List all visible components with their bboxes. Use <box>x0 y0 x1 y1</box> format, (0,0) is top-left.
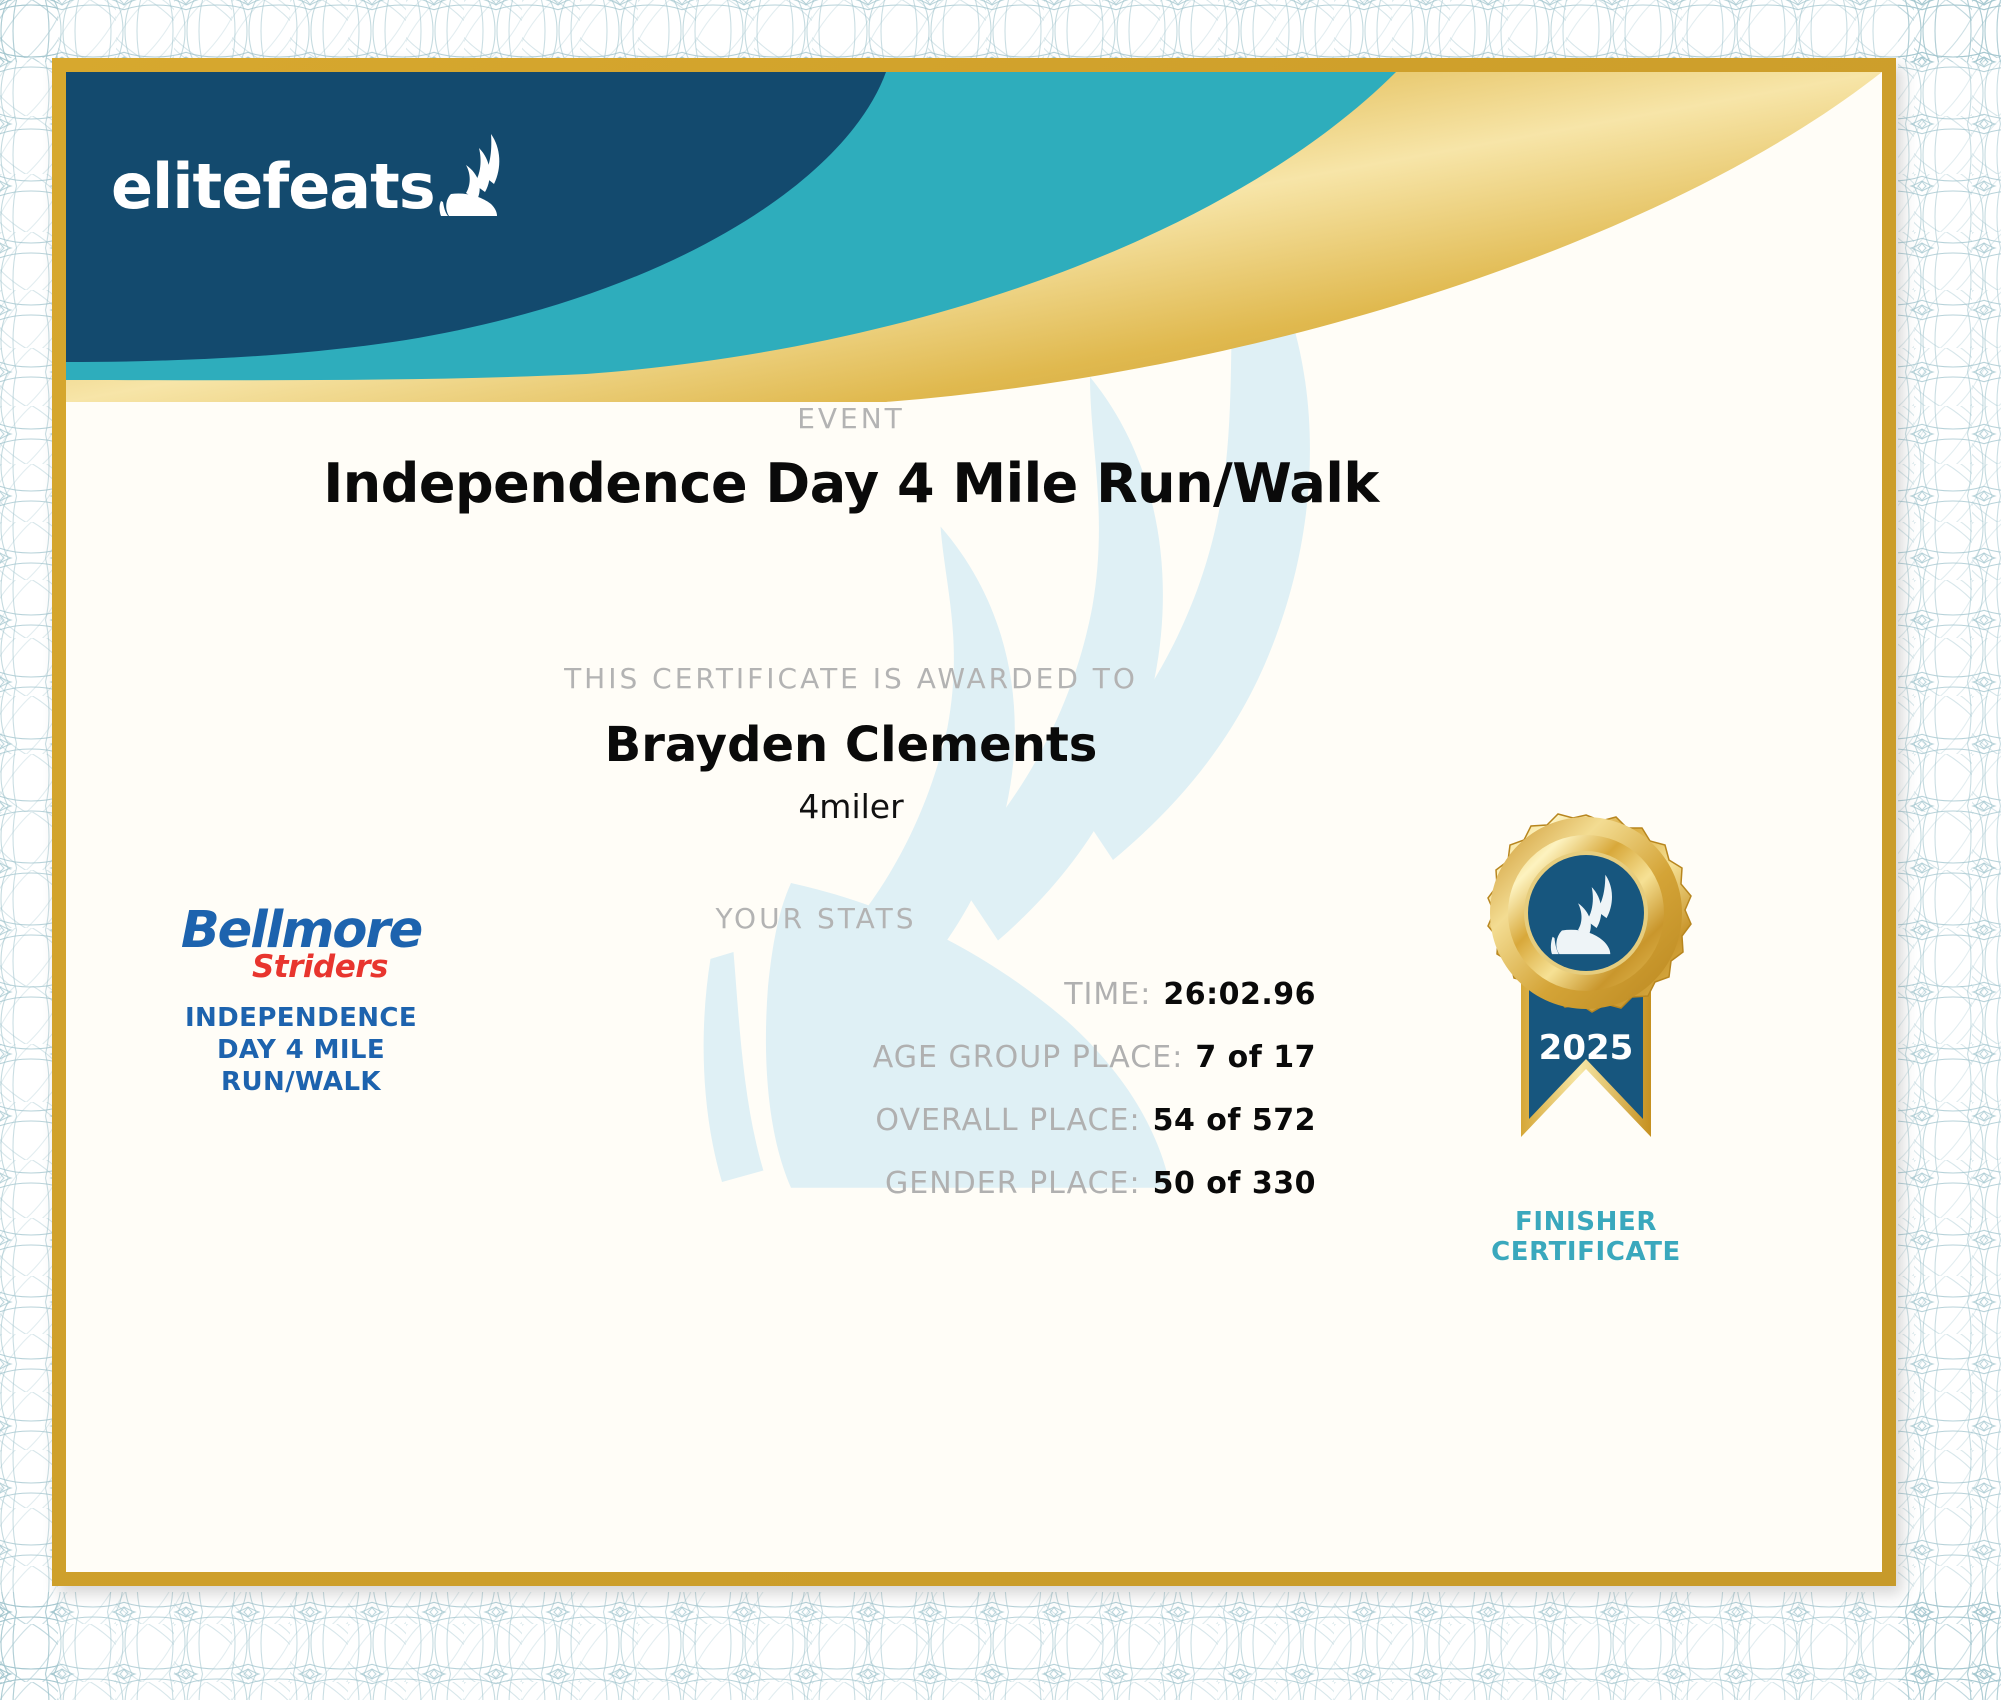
winged-foot-icon <box>439 132 509 218</box>
stat-value-time: 26:02.96 <box>1163 977 1316 1012</box>
badge-caption-line-2: CERTIFICATE <box>1441 1238 1731 1268</box>
finisher-medal-badge: 2025 FINISHER CERTIFICATE <box>1441 797 1731 1268</box>
stats-list: TIME: 26:02.96 AGE GROUP PLACE: 7 of 17 … <box>396 977 1316 1229</box>
event-label: EVENT <box>316 402 1386 435</box>
certificate-page: elitefeats EVENT Independence Day 4 Mile… <box>0 0 2001 1700</box>
medal-ribbon-icon: 2025 <box>1441 797 1731 1197</box>
stat-value-gender-place: 50 of 330 <box>1153 1166 1316 1201</box>
recipient-name: Brayden Clements <box>316 717 1386 773</box>
your-stats-label: YOUR STATS <box>316 902 1316 935</box>
striders-line-3: RUN/WALK <box>156 1067 446 1099</box>
awarded-to-label: THIS CERTIFICATE IS AWARDED TO <box>316 662 1386 695</box>
recipient-division: 4miler <box>316 787 1386 826</box>
elitefeats-logo-text: elitefeats <box>111 156 435 218</box>
striders-wordmark-main: Bellmore <box>156 907 446 955</box>
striders-line-2: DAY 4 MILE <box>156 1035 446 1067</box>
stat-label-overall-place: OVERALL PLACE: <box>875 1103 1140 1138</box>
striders-line-1: INDEPENDENCE <box>156 1003 446 1035</box>
badge-caption-line-1: FINISHER <box>1441 1208 1731 1238</box>
event-title: Independence Day 4 Mile Run/Walk <box>216 452 1486 515</box>
certificate-body: elitefeats EVENT Independence Day 4 Mile… <box>66 72 1882 1572</box>
stat-label-gender-place: GENDER PLACE: <box>885 1166 1141 1201</box>
stat-row: AGE GROUP PLACE: 7 of 17 <box>396 1040 1316 1075</box>
bellmore-striders-logo: Bellmore Striders INDEPENDENCE DAY 4 MIL… <box>156 907 446 1099</box>
stat-value-overall-place: 54 of 572 <box>1153 1103 1316 1138</box>
stat-row: OVERALL PLACE: 54 of 572 <box>396 1103 1316 1138</box>
stat-value-age-group-place: 7 of 17 <box>1195 1040 1316 1075</box>
elitefeats-logo: elitefeats <box>111 132 509 218</box>
stat-label-time: TIME: <box>1064 977 1151 1012</box>
stat-row: GENDER PLACE: 50 of 330 <box>396 1166 1316 1201</box>
striders-event-lines: INDEPENDENCE DAY 4 MILE RUN/WALK <box>156 1003 446 1098</box>
certificate-content: EVENT Independence Day 4 Mile Run/Walk T… <box>66 72 1882 1572</box>
badge-year: 2025 <box>1539 1028 1634 1068</box>
stat-row: TIME: 26:02.96 <box>396 977 1316 1012</box>
badge-caption: FINISHER CERTIFICATE <box>1441 1208 1731 1268</box>
stat-label-age-group-place: AGE GROUP PLACE: <box>873 1040 1184 1075</box>
gold-border-frame: elitefeats EVENT Independence Day 4 Mile… <box>52 58 1896 1586</box>
